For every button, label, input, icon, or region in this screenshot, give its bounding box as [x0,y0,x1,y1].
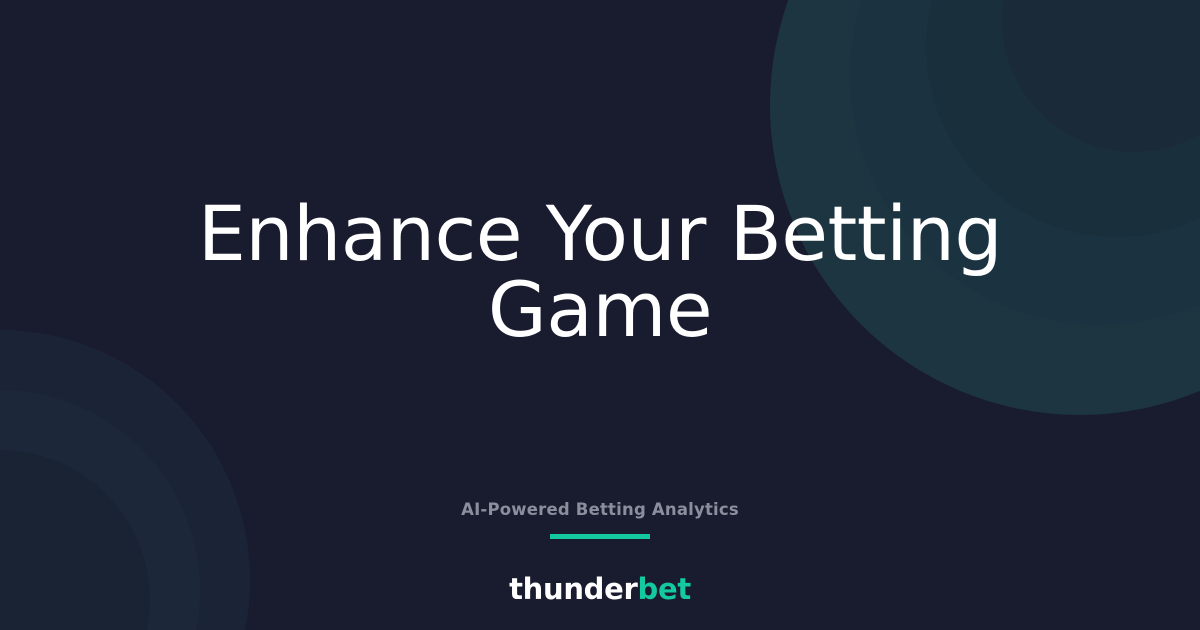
brand-logo: thunderbet [0,575,1200,604]
brand-name-accent: bet [638,572,691,606]
tagline-block: AI-Powered Betting Analytics [0,500,1200,539]
accent-underline-bar [550,534,650,539]
page-title: Enhance Your Betting Game [0,196,1200,348]
og-share-card: Enhance Your Betting Game AI-Powered Bet… [0,0,1200,630]
tagline-text: AI-Powered Betting Analytics [461,500,739,520]
brand-name-primary: thunder [509,572,637,606]
card-content: Enhance Your Betting Game AI-Powered Bet… [0,0,1200,630]
